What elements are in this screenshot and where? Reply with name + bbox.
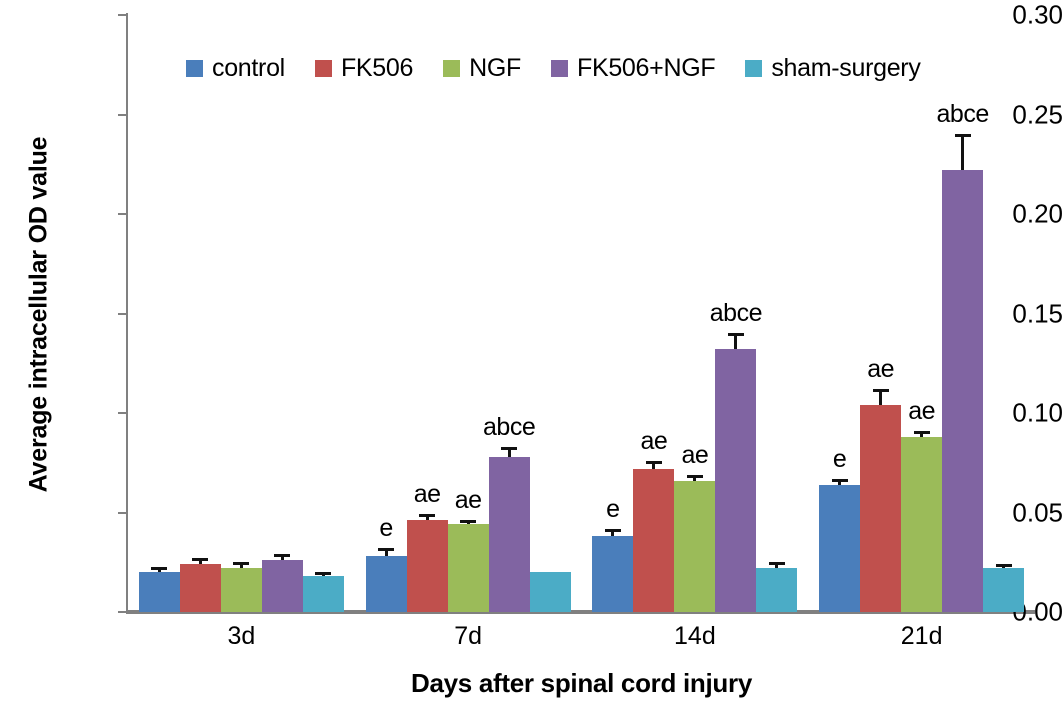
bar [756,568,797,612]
error-bar-cap [460,520,476,523]
significance-annotation: ae [455,486,482,515]
plot-bars-layer: eaeaeabceeaeaeabceeaeaeabce [0,0,1063,612]
x-axis-title: Days after spinal cord injury [128,668,1035,699]
bar [366,556,407,612]
x-tick-label: 14d [674,622,716,651]
bar [715,349,756,612]
error-bar-cap [996,564,1012,567]
error-bar-cap [605,529,621,532]
legend-item: NGF [443,54,521,83]
significance-annotation: ae [867,355,894,384]
error-bar-cap [728,333,744,336]
bar-chart-figure: Average intracellular OD value 0.000.050… [0,0,1063,715]
bar [901,437,942,612]
error-bar-cap [646,461,662,464]
bar [674,481,715,612]
legend-item: FK506 [315,54,413,83]
legend-label: sham-surgery [771,54,920,83]
legend-item: FK506+NGF [551,54,715,83]
bar [407,520,448,612]
error-bar-cap [873,389,889,392]
bar [819,485,860,612]
bar [139,572,180,612]
significance-annotation: abce [710,299,762,328]
legend-label: control [212,54,285,83]
error-bar-cap [914,431,930,434]
bar [983,568,1024,612]
error-bar-cap [419,514,435,517]
legend-swatch-icon [745,60,762,77]
bar [633,469,674,612]
significance-annotation: ae [681,441,708,470]
x-tick-label: 7d [454,622,482,651]
significance-annotation: ae [414,480,441,509]
bar [592,536,633,612]
error-bar-cap [151,567,167,570]
error-bar-cap [274,554,290,557]
legend-swatch-icon [443,60,460,77]
x-tick-label: 3d [227,622,255,651]
error-bar-cap [955,134,971,137]
error-bar-cap [378,548,394,551]
error-bar-cap [192,558,208,561]
bar [221,568,262,612]
bar [180,564,221,612]
error-bar-cap [233,562,249,565]
chart-legend: controlFK506NGFFK506+NGFsham-surgery [186,54,921,83]
legend-item: control [186,54,285,83]
legend-label: NGF [469,54,521,83]
bar [530,572,571,612]
legend-item: sham-surgery [745,54,920,83]
error-bar-cap [832,479,848,482]
bar [942,170,983,612]
error-bar-cap [501,447,517,450]
bar [448,524,489,612]
legend-swatch-icon [186,60,203,77]
significance-annotation: e [606,495,619,524]
significance-annotation: abce [937,100,989,129]
significance-annotation: e [379,514,392,543]
bar [303,576,344,612]
error-bar-cap [315,572,331,575]
significance-annotation: abce [483,413,535,442]
bar [262,560,303,612]
x-tick-label: 21d [901,622,943,651]
bar [860,405,901,612]
legend-label: FK506 [341,54,413,83]
error-bar-cap [769,562,785,565]
legend-swatch-icon [551,60,568,77]
legend-label: FK506+NGF [577,54,715,83]
significance-annotation: e [833,445,846,474]
legend-swatch-icon [315,60,332,77]
significance-annotation: ae [908,397,935,426]
bar [489,457,530,612]
significance-annotation: ae [640,427,667,456]
error-bar-cap [687,475,703,478]
error-bar [961,134,964,170]
